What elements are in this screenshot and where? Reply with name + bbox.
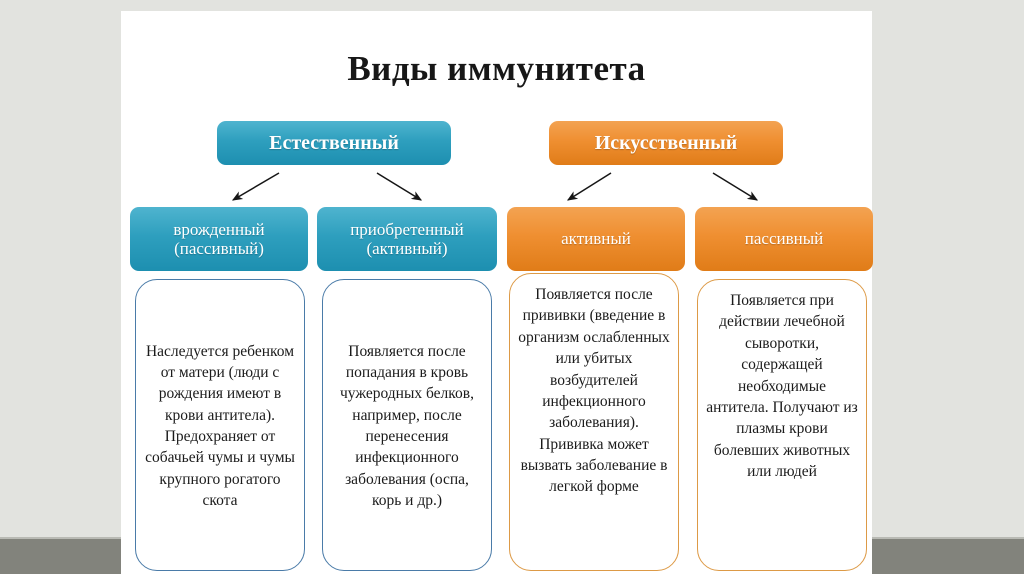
card-artificial-passive-text: Появляется при действии лечебной сыворот… — [706, 290, 858, 482]
box-acquired-active[interactable]: приобретенный (активный) — [317, 207, 497, 271]
arrow-artificial-to-passive — [713, 173, 757, 200]
box-natural-immunity[interactable]: Естественный — [217, 121, 451, 165]
card-acquired-active: Появляется после попадания в кровь чужер… — [322, 279, 492, 571]
card-artificial-passive: Появляется при действии лечебной сыворот… — [697, 279, 867, 571]
box-artificial-active[interactable]: активный — [507, 207, 685, 271]
card-artificial-active-text: Появляется после прививки (введение в ор… — [518, 284, 670, 498]
page-background: Виды иммунитета Естественный Искусственн… — [0, 0, 1024, 574]
arrow-natural-to-innate — [233, 173, 279, 200]
box-acquired-active-line1: приобретенный — [350, 220, 464, 239]
arrow-natural-to-acquired — [377, 173, 421, 200]
box-innate-passive-line1: врожденный — [173, 220, 264, 239]
box-innate-passive[interactable]: врожденный (пассивный) — [130, 207, 308, 271]
page-title: Виды иммунитета — [121, 49, 872, 89]
box-artificial-immunity-label: Искусственный — [595, 132, 738, 154]
card-innate-passive: Наследуется ребенком от матери (люди с р… — [135, 279, 305, 571]
box-innate-passive-label: врожденный (пассивный) — [173, 220, 264, 258]
box-natural-immunity-label: Естественный — [269, 132, 399, 154]
box-artificial-passive[interactable]: пассивный — [695, 207, 873, 271]
box-acquired-active-label: приобретенный (активный) — [350, 220, 464, 258]
card-innate-passive-text: Наследуется ребенком от матери (люди с р… — [144, 341, 296, 512]
box-artificial-immunity[interactable]: Искусственный — [549, 121, 783, 165]
box-artificial-active-label: активный — [561, 229, 631, 248]
arrow-artificial-to-active — [568, 173, 611, 200]
slide-canvas: Виды иммунитета Естественный Искусственн… — [121, 11, 872, 574]
box-artificial-passive-label: пассивный — [745, 229, 823, 248]
card-acquired-active-text: Появляется после попадания в кровь чужер… — [331, 341, 483, 512]
box-acquired-active-line2: (активный) — [366, 239, 447, 258]
card-artificial-active: Появляется после прививки (введение в ор… — [509, 273, 679, 571]
box-innate-passive-line2: (пассивный) — [174, 239, 264, 258]
